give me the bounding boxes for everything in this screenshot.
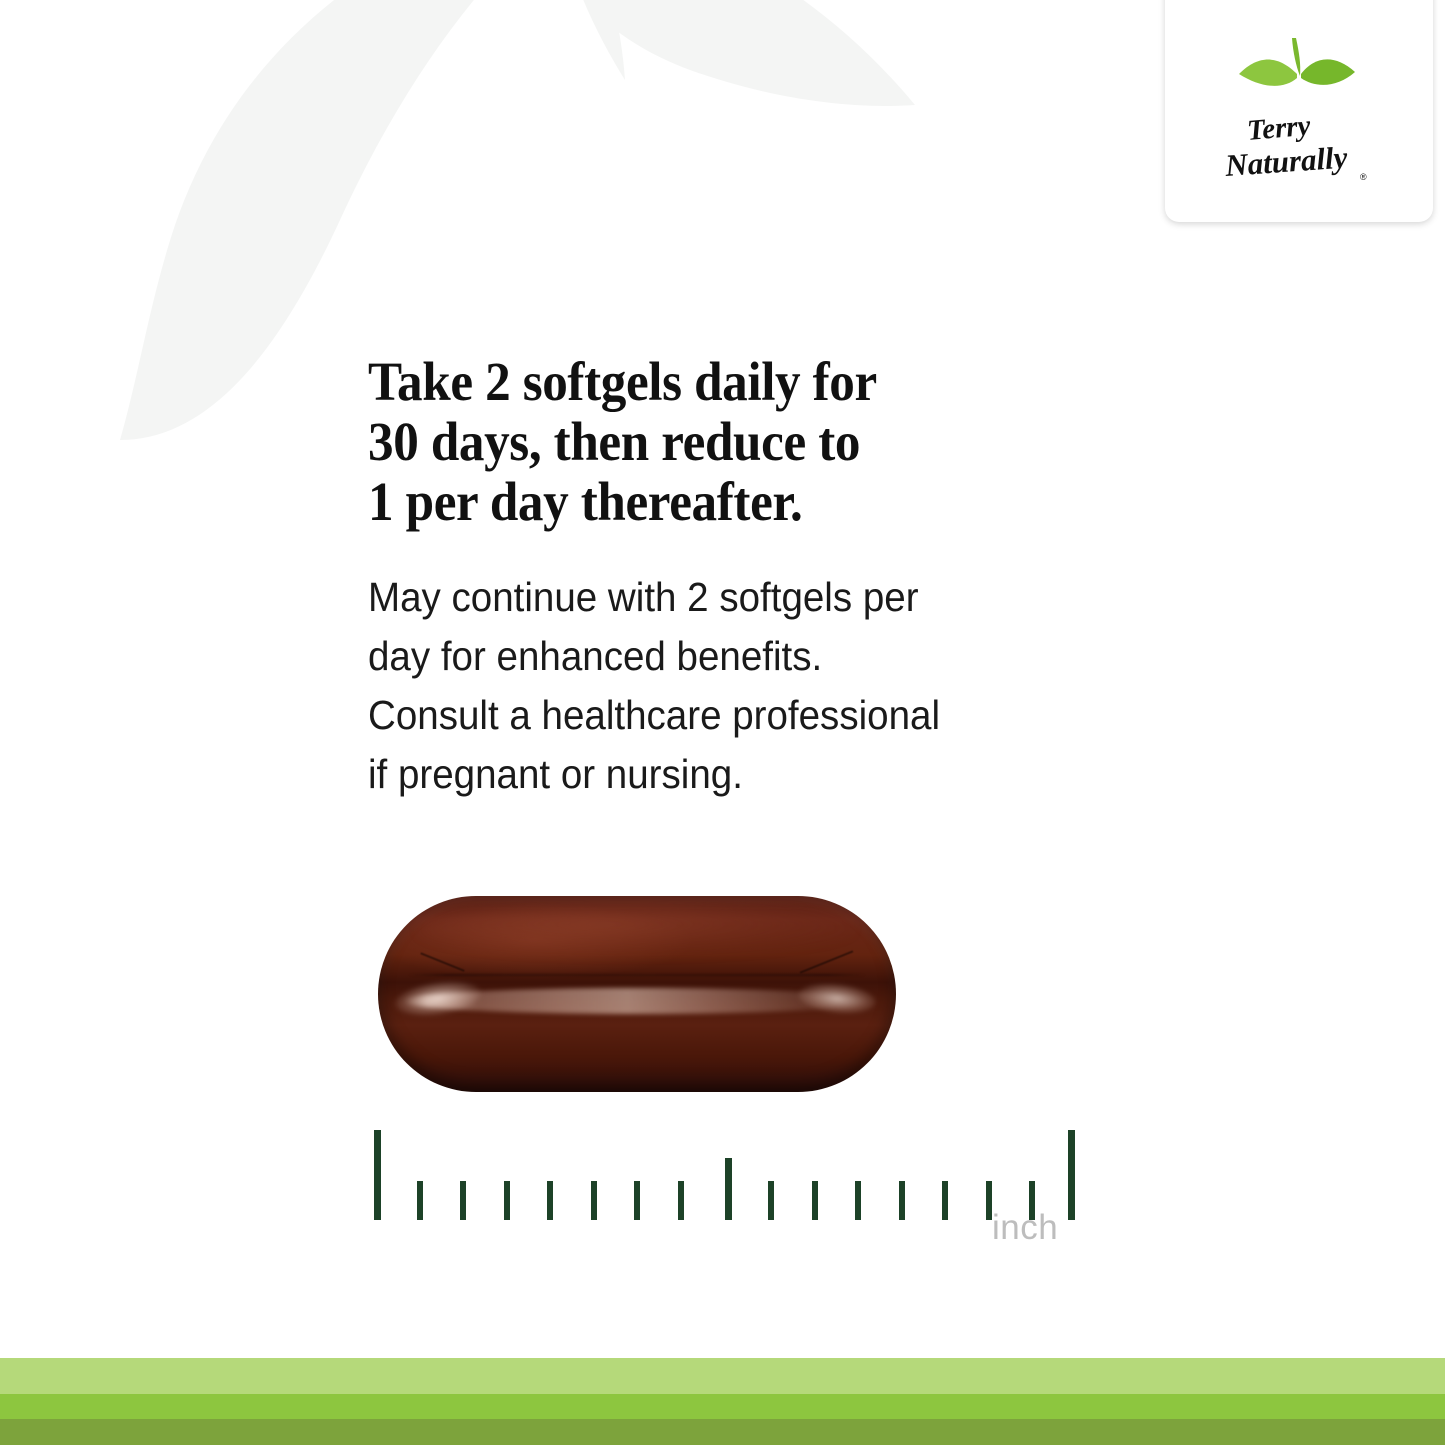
footer-stripes — [0, 1358, 1445, 1445]
brand-logo: Terry Naturally ® — [1165, 0, 1433, 222]
softgel-crease-left — [421, 952, 465, 971]
ruler-tick-major-16 — [1068, 1130, 1075, 1220]
ruler-unit-label: inch — [992, 1208, 1058, 1248]
ruler-tick-minor-1 — [417, 1181, 423, 1220]
product-info-card: Terry Naturally ® Take 2 softgels daily … — [0, 0, 1445, 1445]
footer-stripe-light — [0, 1358, 1445, 1394]
footer-stripe-dark — [0, 1419, 1445, 1445]
body-line-2: day for enhanced benefits. — [368, 627, 1045, 686]
logo-text-naturally: Naturally — [1224, 140, 1349, 184]
ruler-tick-minor-6 — [634, 1181, 640, 1220]
logo-text-terry: Terry — [1246, 110, 1312, 147]
softgel-seam — [409, 974, 865, 976]
size-ruler — [370, 1120, 1080, 1220]
body-line-1: May continue with 2 softgels per — [368, 568, 1045, 627]
ruler-tick-minor-4 — [547, 1181, 553, 1220]
headline-line-2: 30 days, then reduce to — [368, 412, 963, 472]
footer-stripe-mid — [0, 1394, 1445, 1419]
ruler-tick-minor-10 — [812, 1181, 818, 1220]
dosage-headline: Take 2 softgels daily for 30 days, then … — [368, 352, 963, 532]
ruler-tick-minor-5 — [591, 1181, 597, 1220]
softgel-capsule-image — [378, 896, 896, 1092]
headline-line-1: Take 2 softgels daily for — [368, 352, 963, 412]
ruler-tick-minor-3 — [504, 1181, 510, 1220]
ruler-tick-minor-9 — [768, 1181, 774, 1220]
body-line-4: if pregnant or nursing. — [368, 745, 1045, 804]
ruler-tick-major-0 — [374, 1130, 381, 1220]
dosage-description: May continue with 2 softgels per day for… — [368, 568, 1045, 804]
softgel-gloss-right — [796, 980, 876, 1017]
headline-line-3: 1 per day thereafter. — [368, 472, 963, 532]
ruler-tick-minor-12 — [899, 1181, 905, 1220]
brand-wordmark: Terry Naturally ® — [1224, 108, 1374, 192]
sprout-leaf-icon — [1233, 30, 1365, 106]
softgel-gloss-left — [392, 976, 484, 1021]
ruler-tick-minor-11 — [855, 1181, 861, 1220]
softgel-body — [378, 896, 896, 1092]
softgel-crease-right — [799, 950, 853, 973]
ruler-tick-mid-8 — [725, 1158, 732, 1220]
ruler-tick-minor-13 — [942, 1181, 948, 1220]
brand-logo-card: Terry Naturally ® — [1165, 0, 1433, 222]
ruler-tick-minor-7 — [678, 1181, 684, 1220]
registered-mark: ® — [1360, 172, 1367, 182]
body-line-3: Consult a healthcare professional — [368, 686, 1045, 745]
softgel-top-sheen — [419, 904, 854, 955]
ruler-tick-minor-2 — [460, 1181, 466, 1220]
